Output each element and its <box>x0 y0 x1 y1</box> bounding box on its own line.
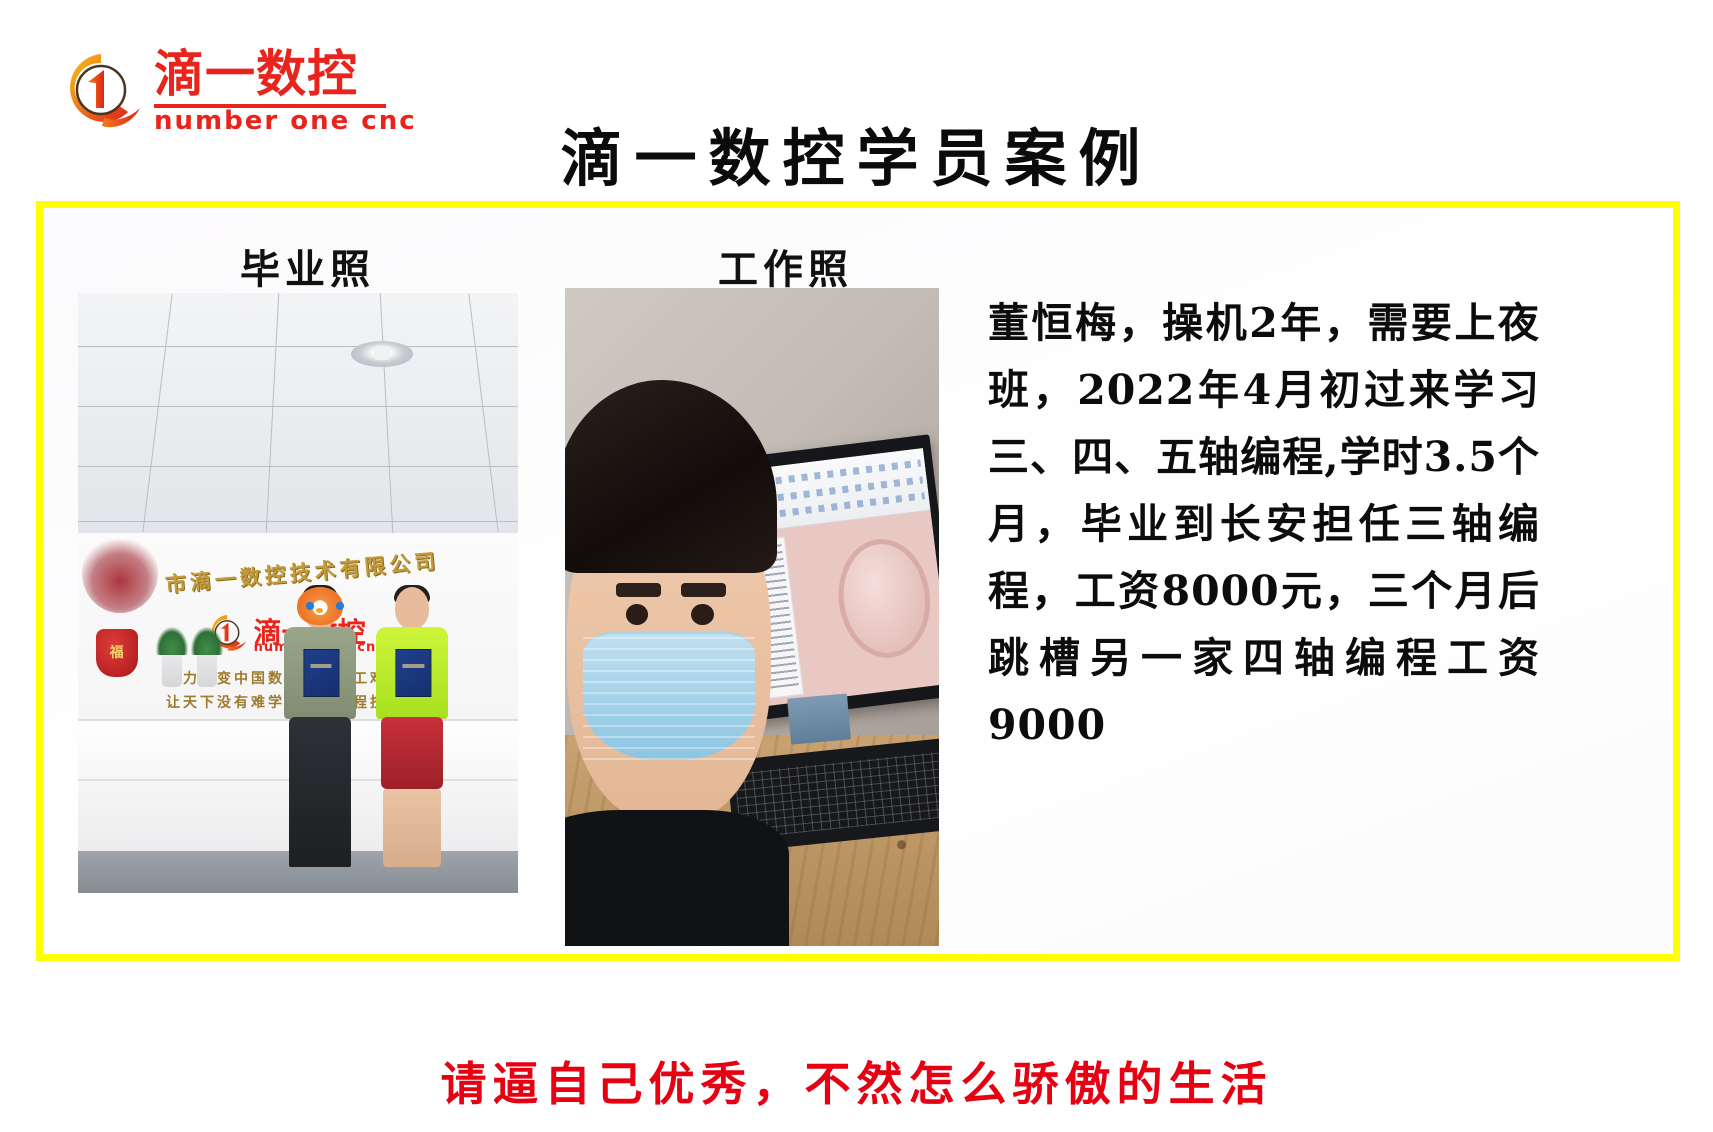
work-photo-caption: 工作照 <box>718 237 853 295</box>
potted-plant <box>162 653 182 687</box>
eyebrow-left <box>616 583 661 597</box>
potted-plant <box>197 653 217 687</box>
ceiling-light <box>351 341 413 367</box>
eye-left <box>626 604 648 625</box>
graduate-person-left <box>272 587 368 887</box>
logo-text-chinese: 滴一数控 <box>154 46 358 102</box>
footer-motivational-slogan: 请逼自己优秀，不然怎么骄傲的生活 <box>0 1048 1713 1114</box>
emoji-face-sticker-icon <box>297 587 343 625</box>
graduate-person-right <box>364 587 460 887</box>
graduation-photo-caption: 毕业照 <box>240 237 375 295</box>
graduation-photo: 市滴一数控技术有限公司 滴一数控 number one cnc 致力改变中国数控… <box>78 293 518 893</box>
page-title: 滴一数控学员案例 <box>0 108 1713 198</box>
eye-right <box>691 604 713 625</box>
certificate-booklet <box>303 649 339 697</box>
work-photo <box>565 288 939 946</box>
fu-vase <box>96 629 138 677</box>
certificate-booklet <box>395 649 431 697</box>
ceiling-tiles <box>78 293 518 533</box>
decorative-flowers <box>82 533 158 613</box>
student-selfie-person <box>565 380 812 946</box>
student-testimonial-text: 董恒梅，操机2年，需要上夜班，2022年4月初过来学习三、四、五轴编程,学时3.… <box>988 290 1540 759</box>
surgical-face-mask <box>583 632 755 760</box>
black-shirt <box>565 810 789 946</box>
hair <box>565 380 777 572</box>
cad-3d-model-ring <box>832 534 937 663</box>
eyebrow-right <box>681 583 726 597</box>
